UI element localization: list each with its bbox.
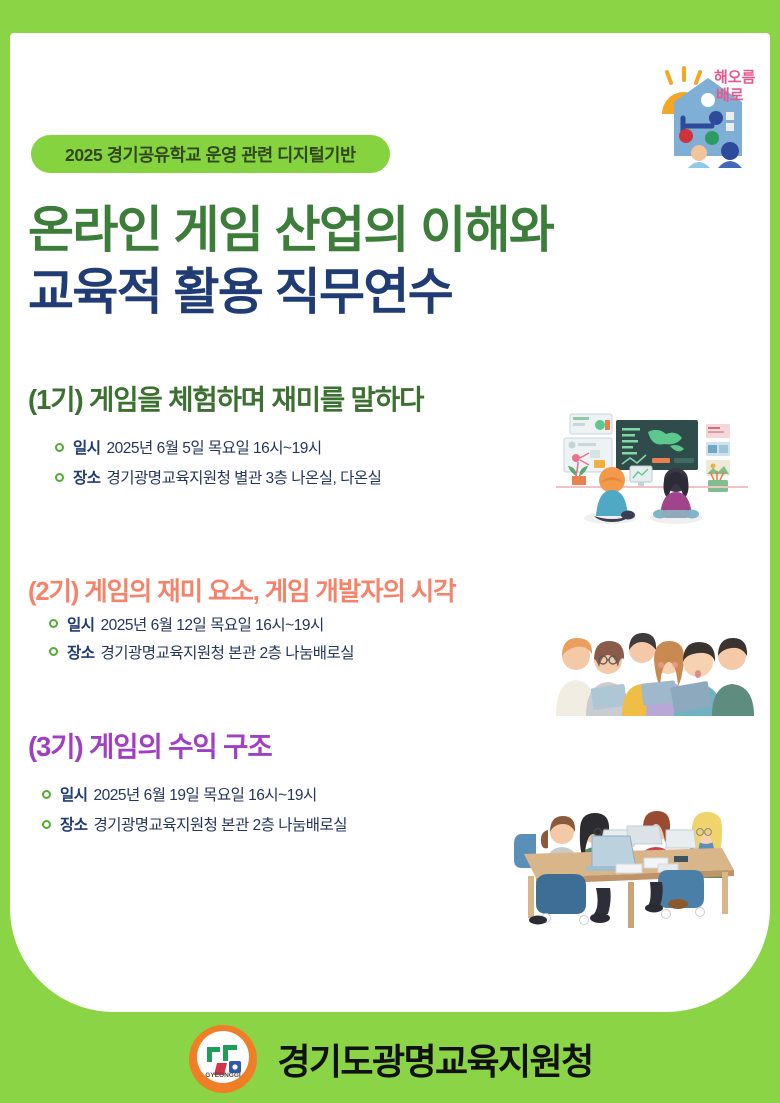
detail-value: 경기광명교육지원청 본관 2층 나눔배로실 (101, 641, 354, 663)
bullet-ring-icon (49, 619, 58, 628)
session-block-3: (3기) 게임의 수익 구조 일시 2025년 6월 19일 목요일 16시~1… (28, 730, 347, 843)
session-2-heading: (2기) 게임의 재미 요소, 게임 개발자의 시각 (28, 577, 456, 609)
session-3-heading: (3기) 게임의 수익 구조 (28, 730, 347, 764)
bullet-ring-icon (42, 820, 51, 829)
footer-bar: GYEONGGI 경기도광명교육지원청 (0, 1014, 780, 1103)
detail-label: 장소 (60, 813, 88, 835)
session-block-1: (1기) 게임을 체험하며 재미를 말하다 일시 2025년 6월 5일 목요일… (28, 383, 423, 496)
illustration-students-group-with-tablets (548, 612, 754, 716)
session-1-location-row: 장소 경기광명교육지원청 별관 3층 나온실, 다온실 (55, 466, 423, 488)
detail-label: 일시 (60, 783, 88, 805)
illustration-people-watching-dashboard-screens (556, 402, 748, 526)
detail-value: 2025년 6월 5일 목요일 16시~19시 (107, 436, 322, 458)
detail-label: 장소 (67, 641, 95, 663)
detail-value: 경기광명교육지원청 별관 3층 나온실, 다온실 (107, 466, 382, 488)
brand-logo-line2: 배로 (716, 87, 744, 104)
session-3-datetime-row: 일시 2025년 6월 19일 목요일 16시~19시 (42, 783, 347, 805)
detail-value: 2025년 6월 19일 목요일 16시~19시 (94, 783, 317, 805)
brand-logo-line1: 해오름 (714, 69, 756, 86)
session-3-location-row: 장소 경기광명교육지원청 본관 2층 나눔배로실 (42, 813, 347, 835)
session-2-detail-list: 일시 2025년 6월 12일 목요일 16시~19시 장소 경기광명교육지원청… (49, 613, 456, 663)
detail-label: 일시 (73, 436, 101, 458)
gyeonggi-education-office-emblem: GYEONGGI (187, 1023, 259, 1095)
session-2-location-row: 장소 경기광명교육지원청 본관 2층 나눔배로실 (49, 641, 456, 663)
bullet-ring-icon (49, 647, 58, 656)
session-1-detail-list: 일시 2025년 6월 5일 목요일 16시~19시 장소 경기광명교육지원청 … (55, 436, 423, 488)
page-title-line-2: 교육적 활용 직무연수 (28, 261, 728, 323)
bullet-ring-icon (55, 443, 64, 452)
session-3-detail-list: 일시 2025년 6월 19일 목요일 16시~19시 장소 경기광명교육지원청… (42, 783, 347, 835)
detail-value: 2025년 6월 12일 목요일 16시~19시 (101, 613, 324, 635)
session-2-datetime-row: 일시 2025년 6월 12일 목요일 16시~19시 (49, 613, 456, 635)
poster-root: 해오름 배로 2025 경기공유학교 운영 관련 디지털기반 온라인 게임 산업… (0, 0, 780, 1103)
footer-organization-name: 경기도광명교육지원청 (277, 1033, 592, 1085)
emblem-caption: GYEONGGI (206, 1072, 242, 1079)
page-title: 온라인 게임 산업의 이해와 교육적 활용 직무연수 (28, 199, 728, 323)
illustration-team-meeting-around-table (508, 778, 752, 930)
detail-value: 경기광명교육지원청 본관 2층 나눔배로실 (94, 813, 347, 835)
gonguhakgyo-brand-logo: 해오름 배로 (652, 56, 758, 168)
bullet-ring-icon (55, 473, 64, 482)
page-title-line-1: 온라인 게임 산업의 이해와 (28, 199, 728, 261)
session-1-datetime-row: 일시 2025년 6월 5일 목요일 16시~19시 (55, 436, 423, 458)
program-badge: 2025 경기공유학교 운영 관련 디지털기반 (31, 135, 390, 173)
bullet-ring-icon (42, 790, 51, 799)
session-1-heading: (1기) 게임을 체험하며 재미를 말하다 (28, 383, 423, 417)
session-block-2: (2기) 게임의 재미 요소, 게임 개발자의 시각 일시 2025년 6월 1… (28, 577, 456, 669)
detail-label: 장소 (73, 466, 101, 488)
detail-label: 일시 (67, 613, 95, 635)
